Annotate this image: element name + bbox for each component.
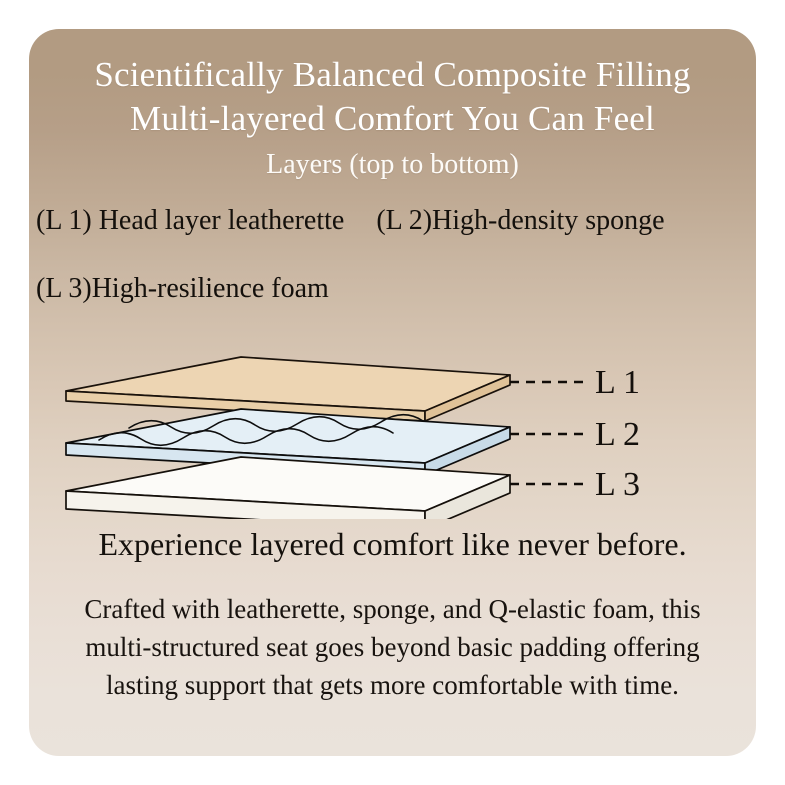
- product-info-card: Scientifically Balanced Composite Fillin…: [29, 29, 756, 756]
- callout-label-l3: L 3: [595, 466, 640, 503]
- page-title-line-1: Scientifically Balanced Composite Fillin…: [29, 53, 756, 97]
- body-copy-line-3: lasting support that gets more comfortab…: [43, 666, 742, 704]
- callout-label-l1: L 1: [595, 364, 640, 401]
- layer-legend-row-1: (L 1) Head layer leatherette (L 2)High-d…: [29, 204, 756, 238]
- layer-legend-item-l3: (L 3)High-resilience foam: [36, 272, 329, 306]
- layer-legend-item-l1: (L 1) Head layer leatherette: [36, 204, 344, 238]
- body-copy-line-1: Crafted with leatherette, sponge, and Q-…: [43, 590, 742, 628]
- layers-subtitle: Layers (top to bottom): [29, 147, 756, 183]
- layer-legend-item-l2: (L 2)High-density sponge: [376, 204, 664, 238]
- body-copy-line-2: multi-structured seat goes beyond basic …: [43, 628, 742, 666]
- body-copy: Crafted with leatherette, sponge, and Q-…: [43, 590, 742, 704]
- callout-label-l2: L 2: [595, 416, 640, 453]
- tagline: Experience layered comfort like never be…: [29, 524, 756, 564]
- page-title-line-2: Multi-layered Comfort You Can Feel: [29, 97, 756, 141]
- layer-legend-row-2: (L 3)High-resilience foam: [29, 272, 756, 306]
- callout-leaders: [510, 382, 585, 484]
- exploded-layer-diagram: L 1 L 2 L 3: [29, 329, 756, 519]
